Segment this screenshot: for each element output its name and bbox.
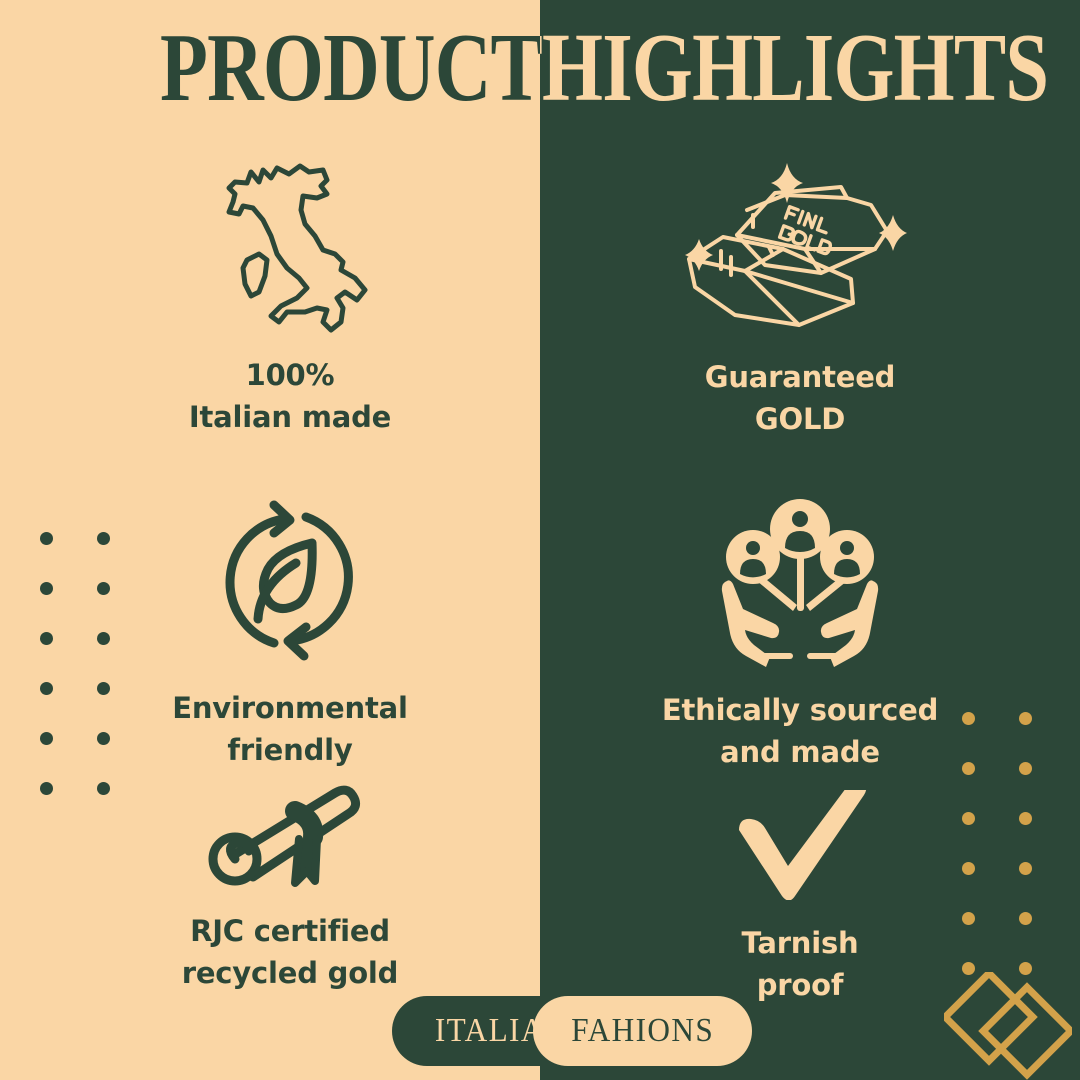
feature-caption-line2: recycled gold	[110, 952, 470, 994]
feature-italian-made: 100% Italian made	[110, 150, 470, 438]
feature-caption: 100% Italian made	[110, 354, 470, 438]
feature-caption: Tarnish proof	[620, 922, 980, 1006]
decor-dot	[97, 582, 110, 595]
feature-caption-line2: and made	[620, 731, 980, 773]
decor-dot	[962, 862, 975, 875]
decor-dot	[40, 782, 53, 795]
page-title: PRODUCTHIGHLIGHTS PRODUCTHIGHLIGHTS	[0, 18, 1080, 118]
logo-pill-fahions[interactable]: FAHIONS	[533, 996, 752, 1066]
decor-dot	[40, 682, 53, 695]
feature-caption-line2: friendly	[110, 729, 470, 771]
decor-dot	[1019, 862, 1032, 875]
decor-dot	[40, 532, 53, 545]
feature-caption-line1: Tarnish	[620, 922, 980, 964]
logo-text-fahions: FAHIONS	[571, 1012, 714, 1050]
feature-caption-line1: RJC certified	[110, 910, 470, 952]
page-title-text-left: PRODUCTHIGHLIGHTS	[160, 18, 540, 118]
decor-dot	[1019, 712, 1032, 725]
decor-dot	[97, 532, 110, 545]
feature-ethically-sourced: Ethically sourced and made	[620, 488, 980, 773]
decor-dot	[40, 582, 53, 595]
feature-caption: Environmental friendly	[110, 687, 470, 771]
hands-holding-people-icon	[620, 488, 980, 673]
decor-dot	[97, 682, 110, 695]
feature-caption-line1: Guaranteed	[620, 356, 980, 398]
feature-guaranteed-gold: Guaranteed GOLD	[620, 150, 980, 440]
feature-environmental-friendly: Environmental friendly	[110, 488, 470, 771]
feature-caption: Ethically sourced and made	[620, 689, 980, 773]
feature-tarnish-proof: Tarnish proof	[620, 790, 980, 1006]
decor-dot	[40, 632, 53, 645]
italy-map-icon	[110, 150, 470, 340]
double-diamond-logo-mark	[944, 972, 1072, 1080]
feature-caption-line2: Italian made	[110, 396, 470, 438]
decor-dot	[1019, 812, 1032, 825]
decor-dot	[1019, 912, 1032, 925]
recycle-leaf-icon	[110, 488, 470, 673]
feature-caption: Guaranteed GOLD	[620, 356, 980, 440]
decor-dot	[962, 912, 975, 925]
decor-dot	[1019, 762, 1032, 775]
feature-caption: RJC certified recycled gold	[110, 910, 470, 994]
feature-caption-line2: GOLD	[620, 398, 980, 440]
feature-caption-line1: 100%	[110, 354, 470, 396]
decor-dot	[962, 762, 975, 775]
feature-rjc-certified: RJC certified recycled gold	[110, 778, 470, 994]
decor-dot	[962, 712, 975, 725]
page-title-right-half: PRODUCTHIGHLIGHTS	[540, 18, 1080, 118]
checkmark-icon	[620, 790, 980, 900]
dot-grid-right	[962, 712, 1032, 975]
dot-grid-left	[40, 532, 110, 795]
page-title-left-half: PRODUCTHIGHLIGHTS	[0, 18, 540, 118]
decor-dot	[97, 732, 110, 745]
decor-dot	[97, 782, 110, 795]
gold-bars-icon	[620, 150, 980, 340]
feature-caption-line1: Environmental	[110, 687, 470, 729]
infographic-canvas: PRODUCTHIGHLIGHTS PRODUCTHIGHLIGHTS 100%…	[0, 0, 1080, 1080]
decor-dot	[962, 812, 975, 825]
decor-dot	[97, 632, 110, 645]
page-title-text-right: PRODUCTHIGHLIGHTS	[540, 18, 1048, 118]
diploma-scroll-icon	[110, 778, 470, 896]
decor-dot	[40, 732, 53, 745]
feature-caption-line1: Ethically sourced	[620, 689, 980, 731]
